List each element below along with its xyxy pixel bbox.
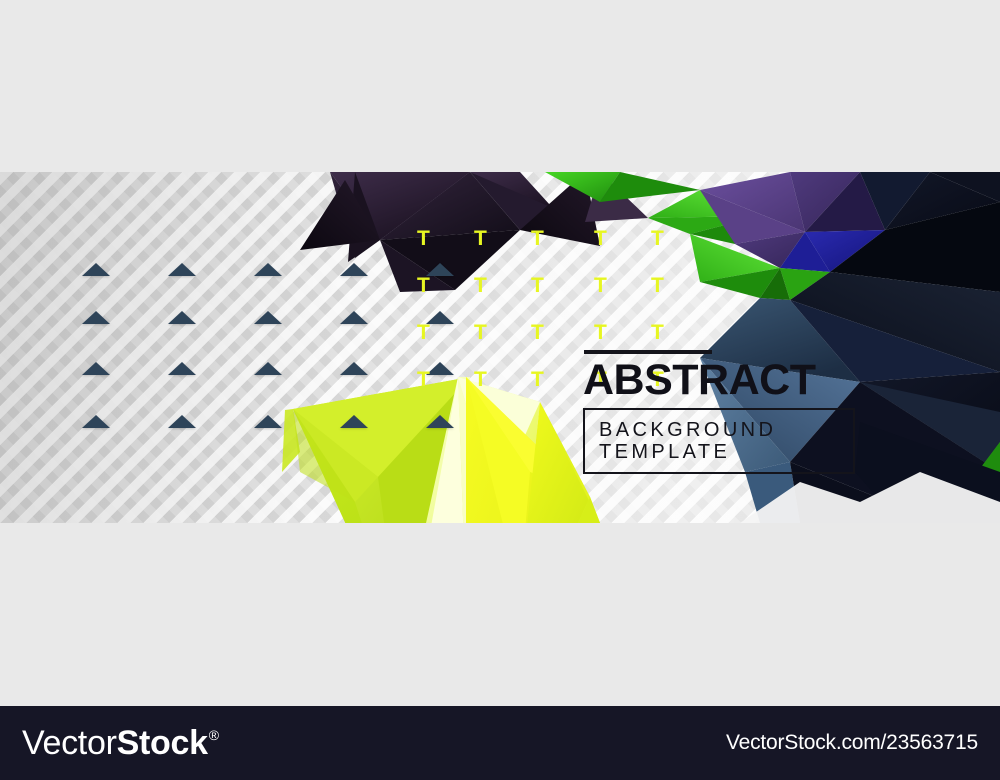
registered-trademark-icon: ® [209, 728, 219, 742]
logo-text-vector: Vector [22, 726, 117, 760]
page-canvas: T T T T T T T T T T T T T T T T T T T T … [0, 0, 1000, 780]
vectorstock-logo: VectorStock® [22, 726, 219, 760]
page-title: ABSTRACT [583, 359, 873, 402]
subtitle-line-2: TEMPLATE [599, 441, 853, 463]
logo-text-stock: Stock [117, 726, 208, 760]
subtitle-box: BACKGROUND TEMPLATE [583, 408, 855, 474]
abstract-banner-artwork: T T T T T T T T T T T T T T T T T T T T … [0, 172, 1000, 523]
vectorstock-watermark-bar: VectorStock® VectorStock.com/23563715 [0, 706, 1000, 780]
headline-block: ABSTRACT BACKGROUND TEMPLATE [583, 350, 873, 474]
headline-rule [584, 350, 712, 354]
vectorstock-url: VectorStock.com/23563715 [726, 731, 978, 755]
subtitle-line-1: BACKGROUND [599, 419, 853, 441]
